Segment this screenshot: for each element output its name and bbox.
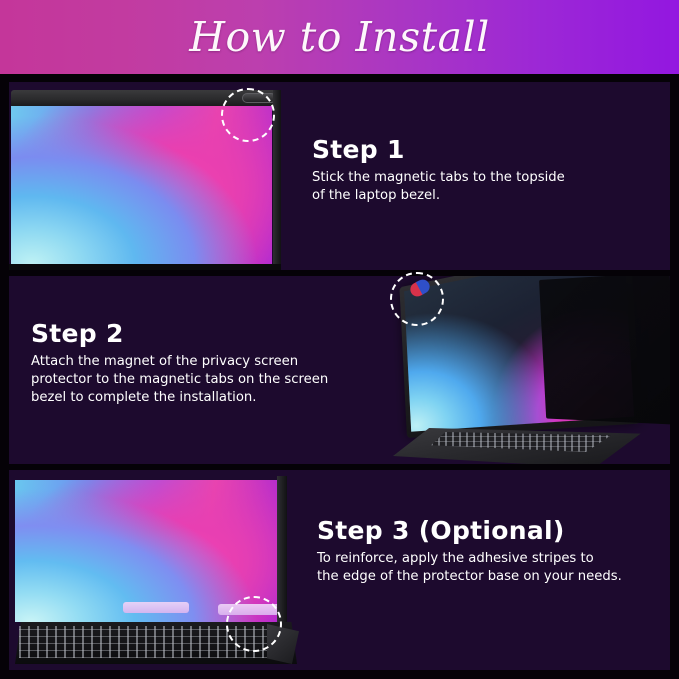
privacy-screen-protector <box>539 276 670 425</box>
laptop-bottom-edge <box>9 264 281 270</box>
highlight-ring-magnet <box>390 272 444 326</box>
step-3-body: To reinforce, apply the adhesive stripes… <box>317 550 667 586</box>
adhesive-stripe-left <box>123 602 189 613</box>
step-1-panel: Step 1 Stick the magnetic tabs to the to… <box>9 82 670 270</box>
step-3-title: Step 3 (Optional) <box>317 518 667 543</box>
step-3-text-block: Step 3 (Optional) To reinforce, apply th… <box>317 518 667 586</box>
step-3-panel: Step 3 (Optional) To reinforce, apply th… <box>9 470 670 670</box>
step-2-title: Step 2 <box>31 321 371 346</box>
step-2-panel: Step 2 Attach the magnet of the privacy … <box>9 276 670 464</box>
laptop-right-edge-step3 <box>277 476 287 624</box>
step-2-text-block: Step 2 Attach the magnet of the privacy … <box>31 321 371 408</box>
step-1-body: Stick the magnetic tabs to the topside o… <box>312 169 662 205</box>
highlight-ring-magnetic-tab <box>221 88 275 142</box>
step-1-title: Step 1 <box>312 137 662 162</box>
header-banner: How to Install <box>0 0 679 74</box>
highlight-ring-adhesive-stripe <box>226 596 282 652</box>
step-1-text-block: Step 1 Stick the magnetic tabs to the to… <box>312 137 662 205</box>
step-2-body: Attach the magnet of the privacy screen … <box>31 353 371 408</box>
how-to-install-infographic: How to Install Step 1 Stick the magnetic… <box>0 0 679 679</box>
page-title: How to Install <box>189 13 490 61</box>
